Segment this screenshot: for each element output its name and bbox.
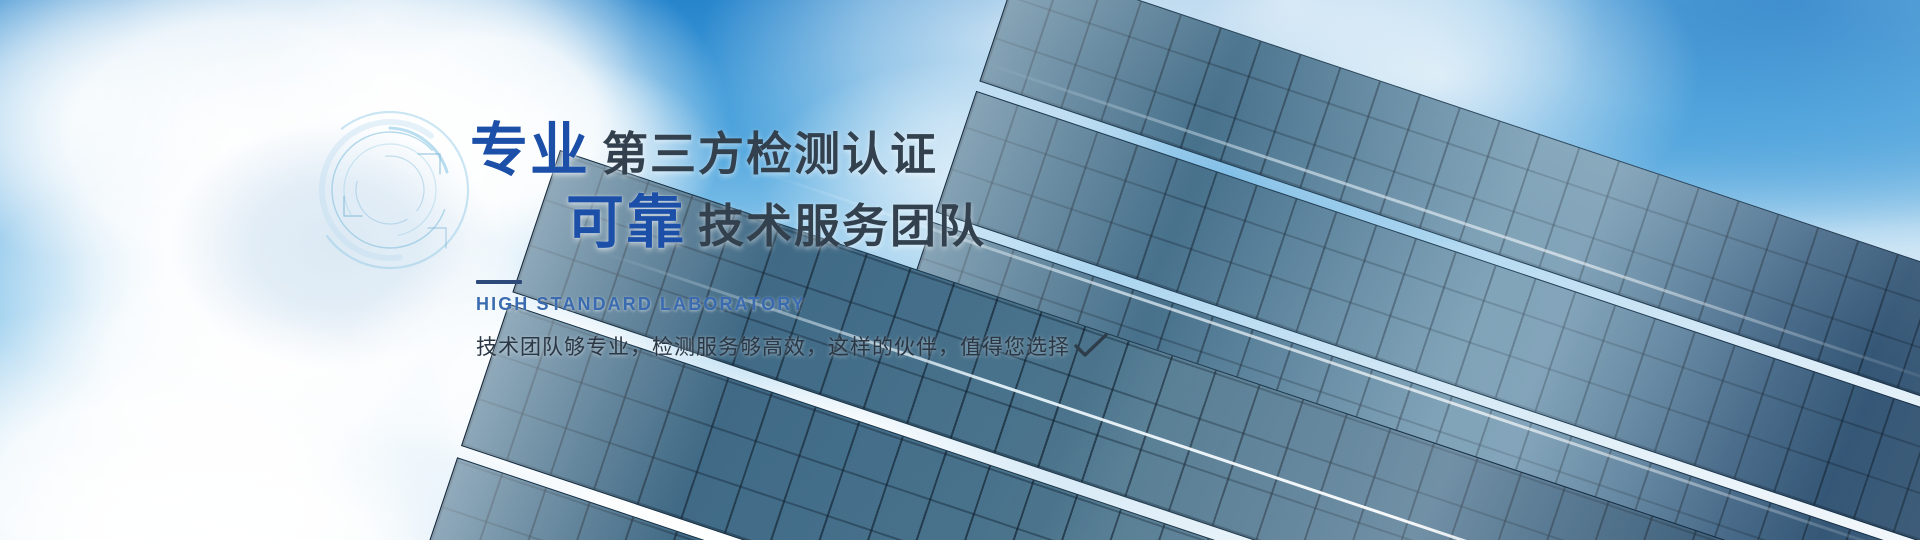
headline-line-2: 可靠 技术服务团队 [566, 194, 1202, 252]
headline-line-1: 专业 第三方检测认证 [470, 122, 1202, 180]
check-mark-icon [1074, 333, 1108, 359]
headline-keyword-1: 专业 [470, 122, 590, 180]
subtitle-row: 技术团队够专业，检测服务够高效，这样的伙伴，值得您选择 [476, 331, 1202, 361]
eyebrow-text: HIGH STANDARD LABORATORY [476, 294, 1202, 315]
divider-rule [476, 280, 522, 284]
subtitle-text: 技术团队够专业，检测服务够高效，这样的伙伴，值得您选择 [476, 331, 1070, 361]
headline-rest-1: 第三方检测认证 [602, 131, 938, 177]
headline-block: 专业 第三方检测认证 可靠 技术服务团队 HIGH STANDARD LABOR… [462, 122, 1202, 361]
hero-banner: 专业 第三方检测认证 可靠 技术服务团队 HIGH STANDARD LABOR… [0, 0, 1920, 540]
headline-keyword-2: 可靠 [566, 194, 686, 252]
headline-rest-2: 技术服务团队 [698, 203, 986, 249]
tech-ring-icon [300, 100, 480, 280]
